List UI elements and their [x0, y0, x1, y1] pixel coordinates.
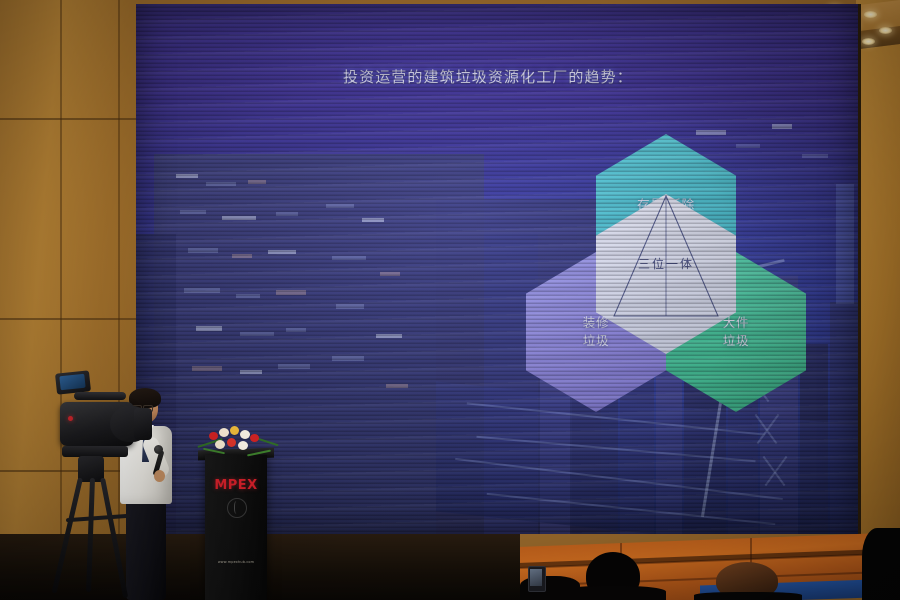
- flower-arrangement: [197, 420, 277, 460]
- podium-logo-icon: [227, 498, 247, 518]
- camera-monitor-screen: [59, 374, 85, 391]
- trinity-hexagon-diagram: 存量/拆除 建筑垃圾 装修 垃圾 大件 垃圾: [516, 134, 816, 494]
- video-camera-rig: [48, 366, 156, 600]
- center-label-wrap: 三位一体: [596, 194, 736, 354]
- conference-photo: 投资运营的建筑垃圾资源化工厂的趋势： 存量/拆除 建筑垃圾 装修 垃圾 大件 垃…: [0, 0, 900, 600]
- right-wall: [856, 0, 900, 600]
- center-label: 三位一体: [638, 255, 694, 272]
- podium-brand-label: MPEX: [205, 478, 267, 493]
- tripod-leg: [86, 478, 95, 592]
- slide-title: 投资运营的建筑垃圾资源化工厂的趋势：: [343, 66, 633, 87]
- smartphone-screen: [530, 569, 542, 586]
- tripod-leg: [52, 477, 83, 593]
- podium[interactable]: [205, 455, 267, 600]
- tripod-leg: [100, 478, 128, 599]
- podium-url-label: www.mpexhub.com: [205, 560, 267, 564]
- camera-rec-indicator: [68, 416, 73, 421]
